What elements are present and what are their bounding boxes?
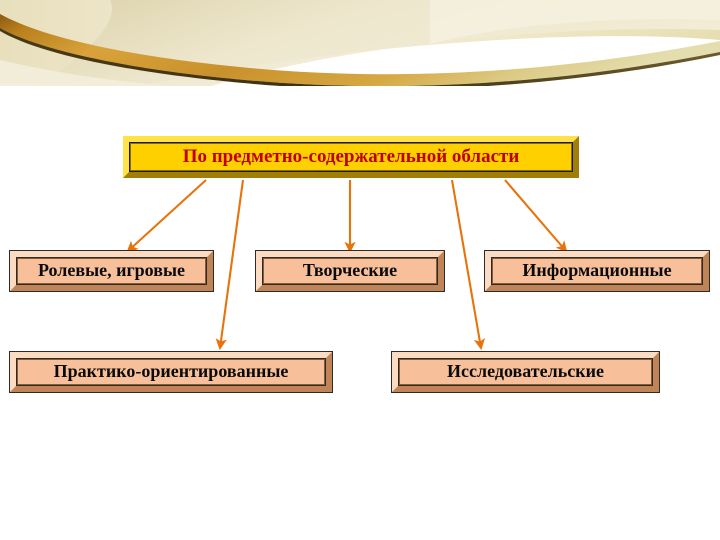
node-label: Ролевые, игровые xyxy=(38,261,185,279)
node-label: Исследовательские xyxy=(447,362,604,380)
slide-canvas: По предметно-содержательной области Роле… xyxy=(0,0,720,540)
node-informatsionnye[interactable]: Информационные xyxy=(485,251,709,291)
node-root-label: По предметно-содержательной области xyxy=(183,147,520,166)
connector-root-to-n4 xyxy=(220,180,243,348)
node-label: Творческие xyxy=(303,261,397,279)
connector-root-to-n5 xyxy=(452,180,481,348)
node-praktiko-orientirovannye[interactable]: Практико-ориентированные xyxy=(10,352,332,392)
connector-root-to-n1 xyxy=(128,180,206,251)
node-rolevye-igrovye[interactable]: Ролевые, игровые xyxy=(10,251,213,291)
node-issledovatelskie[interactable]: Исследовательские xyxy=(392,352,659,392)
node-label: Информационные xyxy=(522,261,671,279)
decorative-header-banner xyxy=(0,0,720,86)
node-root[interactable]: По предметно-содержательной области xyxy=(123,136,579,178)
node-label: Практико-ориентированные xyxy=(54,362,289,380)
node-tvorcheskie[interactable]: Творческие xyxy=(256,251,444,291)
connector-root-to-n3 xyxy=(505,180,566,251)
